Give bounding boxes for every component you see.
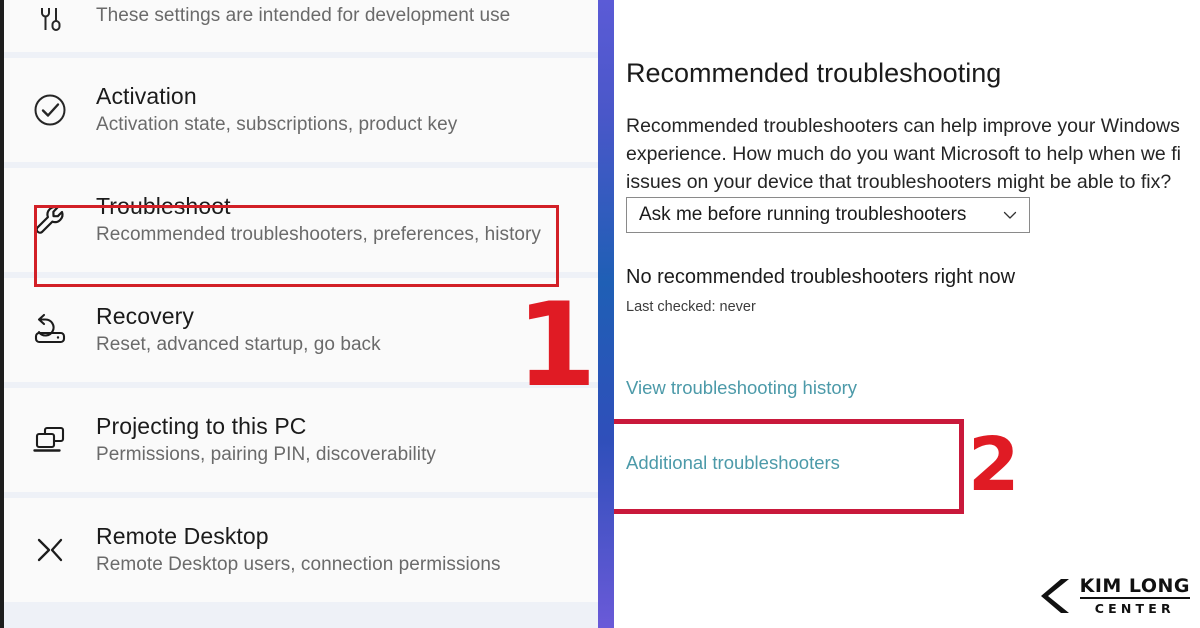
page-description: Recommended troubleshooters can help imp…: [626, 112, 1200, 196]
sidebar-item-subtitle: Remote Desktop users, connection permiss…: [96, 552, 501, 577]
sidebar-item-text: For developers These settings are intend…: [96, 0, 510, 44]
settings-sidebar: For developers These settings are intend…: [0, 0, 598, 628]
chevron-mark-icon: [1039, 576, 1073, 616]
sidebar-item-text: Recovery Reset, advanced startup, go bac…: [96, 303, 381, 357]
troubleshooter-preference-select[interactable]: Ask me before running troubleshooters: [626, 197, 1030, 233]
wrench-icon: [4, 198, 96, 242]
panel-divider: [598, 0, 614, 628]
sidebar-item-text: Remote Desktop Remote Desktop users, con…: [96, 523, 501, 577]
status-message: No recommended troubleshooters right now: [626, 266, 1015, 289]
chevron-down-icon: [1001, 206, 1019, 224]
sidebar-item-text: Troubleshoot Recommended troubleshooters…: [96, 193, 541, 247]
sidebar-item-subtitle: Reset, advanced startup, go back: [96, 332, 381, 357]
sidebar-item-activation[interactable]: Activation Activation state, subscriptio…: [4, 58, 598, 162]
settings-nav-list: For developers These settings are intend…: [4, 0, 598, 608]
sidebar-item-remote-desktop[interactable]: Remote Desktop Remote Desktop users, con…: [4, 498, 598, 602]
sidebar-item-text: Activation Activation state, subscriptio…: [96, 83, 457, 137]
sidebar-item-text: Projecting to this PC Permissions, pairi…: [96, 413, 436, 467]
description-line-3: issues on your device that troubleshoote…: [626, 168, 1200, 196]
description-line-2: experience. How much do you want Microso…: [626, 140, 1200, 168]
sidebar-item-title: Troubleshoot: [96, 193, 541, 220]
clipped-top-text: [614, 0, 1200, 2]
sidebar-item-recovery[interactable]: Recovery Reset, advanced startup, go bac…: [4, 278, 598, 382]
projecting-screens-icon: [4, 418, 96, 462]
sidebar-item-title: For developers: [96, 0, 510, 1]
link-additional-troubleshooters[interactable]: Additional troubleshooters: [626, 452, 840, 474]
sidebar-item-title: Projecting to this PC: [96, 413, 436, 440]
troubleshoot-settings-panel: Recommended troubleshooting Recommended …: [614, 0, 1200, 628]
page-title: Recommended troubleshooting: [626, 56, 1001, 90]
check-circle-icon: [4, 89, 96, 131]
settings-screenshot: For developers These settings are intend…: [0, 0, 1200, 628]
sidebar-item-for-developers[interactable]: For developers These settings are intend…: [4, 0, 598, 52]
description-line-1: Recommended troubleshooters can help imp…: [626, 112, 1200, 140]
sidebar-item-troubleshoot[interactable]: Troubleshoot Recommended troubleshooters…: [4, 168, 598, 272]
select-selected-value: Ask me before running troubleshooters: [639, 204, 966, 226]
link-view-troubleshooting-history[interactable]: View troubleshooting history: [626, 377, 857, 399]
sidebar-item-subtitle: These settings are intended for developm…: [96, 3, 510, 28]
sidebar-item-title: Recovery: [96, 303, 381, 330]
watermark-line-2: CENTER: [1080, 601, 1190, 616]
sidebar-item-title: Activation: [96, 83, 457, 110]
sidebar-item-subtitle: Recommended troubleshooters, preferences…: [96, 222, 541, 247]
step-marker-2: 2: [968, 430, 1020, 500]
tools-icon: [4, 4, 96, 44]
watermark-text: KIM LONG CENTER: [1080, 576, 1190, 616]
sidebar-item-title: Remote Desktop: [96, 523, 501, 550]
step-marker-1: 1: [516, 296, 595, 396]
remote-desktop-icon: [4, 528, 96, 572]
sidebar-item-subtitle: Activation state, subscriptions, product…: [96, 112, 457, 137]
watermark-logo: KIM LONG CENTER: [1039, 576, 1190, 616]
watermark-line-1: KIM LONG: [1080, 576, 1190, 599]
recovery-drive-icon: [4, 308, 96, 352]
last-checked-text: Last checked: never: [626, 299, 756, 315]
sidebar-item-projecting-to-this-pc[interactable]: Projecting to this PC Permissions, pairi…: [4, 388, 598, 492]
sidebar-item-subtitle: Permissions, pairing PIN, discoverabilit…: [96, 442, 436, 467]
